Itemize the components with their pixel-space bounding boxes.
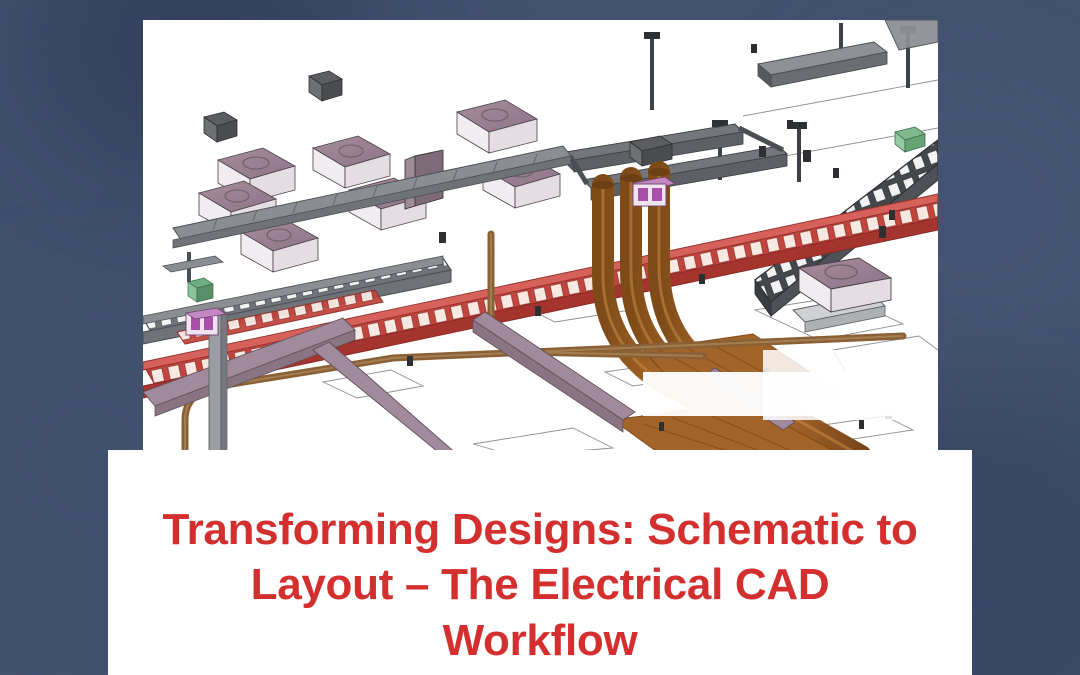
small-device [188, 278, 213, 302]
title-card: Transforming Designs: Schematic to Layou… [108, 450, 972, 675]
page-title: Transforming Designs: Schematic to Layou… [150, 502, 930, 668]
cad-isometric-drawing [143, 20, 938, 456]
cad-layout-image [143, 20, 938, 456]
page-root: Transforming Designs: Schematic to Layou… [0, 0, 1080, 675]
